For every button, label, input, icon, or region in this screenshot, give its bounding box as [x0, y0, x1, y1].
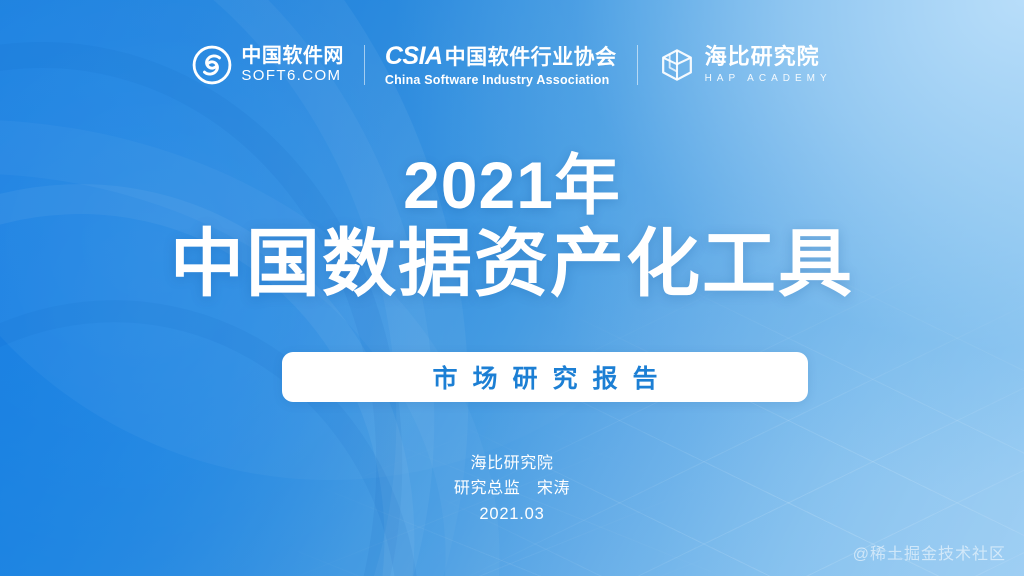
logo-divider-1: [364, 45, 365, 85]
page-title: 中国数据资产化工具: [0, 223, 1024, 306]
footer-date: 2021.03: [0, 502, 1024, 528]
soft6-logo-cn: 中国软件网: [241, 46, 344, 67]
csia-logo-cn: 中国软件行业协会: [445, 47, 617, 68]
subtitle-text: 市场研究报告: [417, 359, 672, 395]
csia-logo: CSIA 中国软件行业协会 China Software Industry As…: [385, 44, 617, 87]
hap-academy-logo: 海比研究院 HAP ACADEMY: [658, 46, 832, 84]
hap-logo-cn: 海比研究院: [705, 46, 832, 68]
title-year: 2021年: [0, 152, 1024, 219]
subtitle-pill: 市场研究报告: [282, 352, 808, 402]
hap-logo-en: HAP ACADEMY: [705, 74, 832, 84]
soft6-logo-en: SOFT6.COM: [241, 68, 344, 85]
csia-logo-en: China Software Industry Association: [385, 74, 617, 87]
presentation-cover-slide: 中国软件网 SOFT6.COM CSIA 中国软件行业协会 China Soft…: [0, 0, 1024, 576]
diagonal-mesh-decoration-center: [250, 306, 770, 576]
soft6-swirl-logo-icon: [192, 45, 232, 85]
title-block: 2021年 中国数据资产化工具: [0, 152, 1024, 306]
cube-logo-icon: [658, 46, 696, 84]
footer-organization: 海比研究院: [0, 452, 1024, 477]
csia-abbr: CSIA: [385, 44, 443, 69]
logo-divider-2: [637, 45, 638, 85]
watermark: @稀土掘金技术社区: [853, 540, 1006, 564]
footer-credits: 海比研究院 研究总监 宋涛 2021.03: [0, 452, 1024, 527]
background-swirl-band-5: [0, 269, 453, 576]
soft6-logo: 中国软件网 SOFT6.COM: [192, 45, 344, 85]
logo-bar: 中国软件网 SOFT6.COM CSIA 中国软件行业协会 China Soft…: [0, 44, 1024, 87]
soft6-logo-text: 中国软件网 SOFT6.COM: [241, 46, 344, 85]
footer-author: 研究总监 宋涛: [0, 477, 1024, 502]
